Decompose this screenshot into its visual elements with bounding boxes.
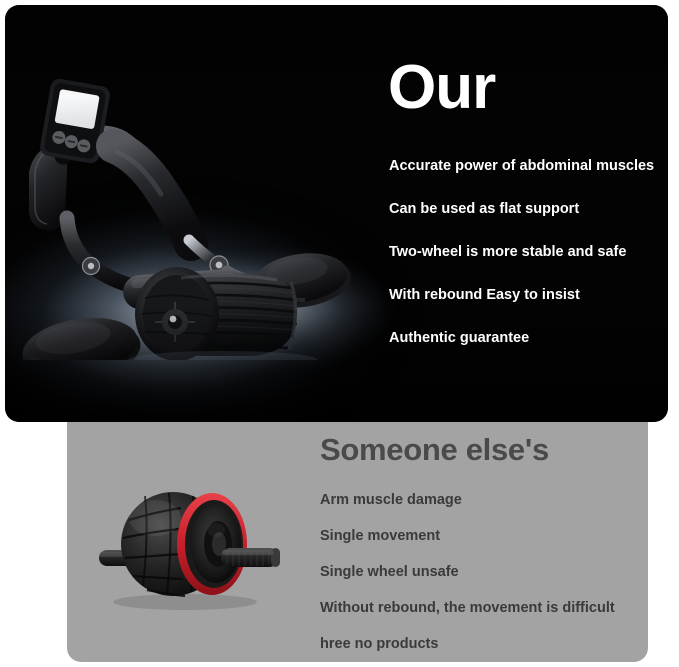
list-item: hree no products	[320, 626, 650, 662]
list-item: Authentic guarantee	[389, 317, 668, 360]
competitor-product-image	[85, 482, 290, 612]
competitor-drawback-list: Arm muscle damage Single movement Single…	[320, 482, 650, 662]
list-item: Accurate power of abdominal muscles	[389, 145, 668, 188]
our-feature-list: Accurate power of abdominal muscles Can …	[389, 145, 668, 360]
single-wheel-ab-roller-icon	[85, 482, 290, 612]
list-item: Arm muscle damage	[320, 482, 650, 518]
list-item: Two-wheel is more stable and safe	[389, 231, 668, 274]
list-item: Can be used as flat support	[389, 188, 668, 231]
list-item: Single movement	[320, 518, 650, 554]
our-product-panel: Our Accurate power of abdominal muscles …	[5, 5, 668, 422]
competitor-panel: Someone else's Arm muscle damage Single …	[67, 422, 648, 662]
right-handle-icon	[221, 548, 280, 567]
our-heading: Our	[388, 57, 495, 119]
list-item: Without rebound, the movement is difficu…	[320, 590, 650, 626]
list-item: With rebound Easy to insist	[389, 274, 668, 317]
competitor-heading: Someone else's	[320, 432, 650, 468]
list-item: Single wheel unsafe	[320, 554, 650, 590]
